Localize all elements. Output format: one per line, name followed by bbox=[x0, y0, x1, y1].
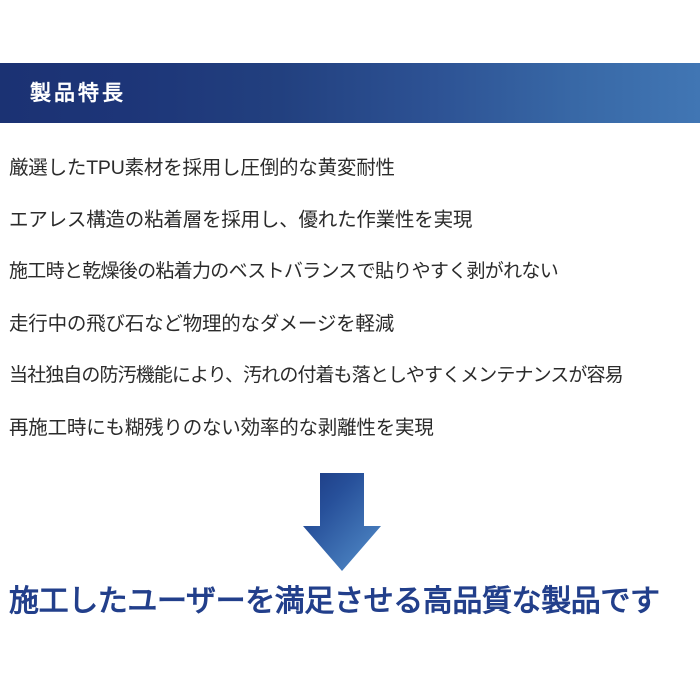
feature-item: 厳選したTPU素材を採用し圧倒的な黄変耐性 bbox=[0, 142, 700, 194]
section-title: 製品特長 bbox=[30, 83, 126, 104]
feature-item: 施工時と乾燥後の粘着力のベストバランスで貼りやすく剥がれない bbox=[0, 246, 700, 298]
product-features-page: 製品特長 厳選したTPU素材を採用し圧倒的な黄変耐性 エアレス構造の粘着層を採用… bbox=[0, 0, 700, 700]
feature-item: 当社独自の防汚機能により、汚れの付着も落としやすくメンテナンスが容易 bbox=[0, 350, 700, 402]
arrow-down-icon bbox=[303, 473, 381, 571]
closing-headline: 施工したユーザーを満足させる高品質な製品です bbox=[0, 580, 700, 624]
feature-item: 再施工時にも糊残りのない効率的な剥離性を実現 bbox=[0, 402, 700, 454]
feature-item: 走行中の飛び石など物理的なダメージを軽減 bbox=[0, 298, 700, 350]
section-header-band: 製品特長 bbox=[0, 63, 700, 123]
feature-list: 厳選したTPU素材を採用し圧倒的な黄変耐性 エアレス構造の粘着層を採用し、優れた… bbox=[0, 142, 700, 454]
feature-item: エアレス構造の粘着層を採用し、優れた作業性を実現 bbox=[0, 194, 700, 246]
